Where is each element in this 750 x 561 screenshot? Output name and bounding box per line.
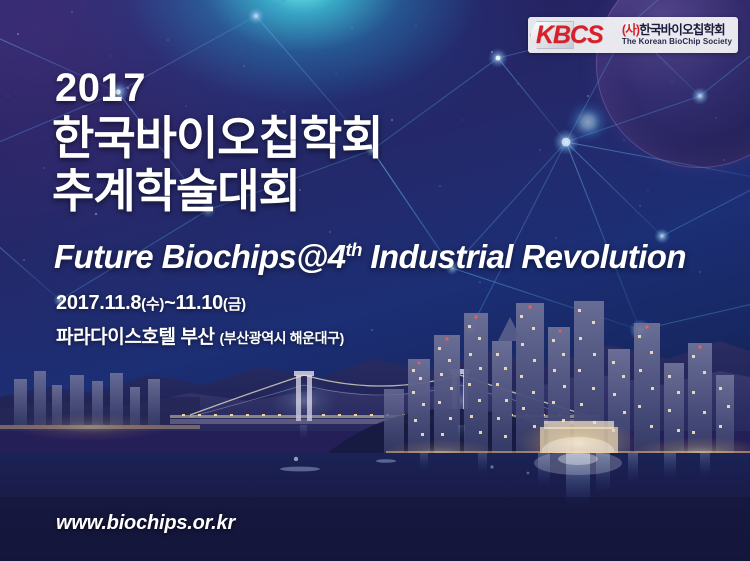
venue-district: (부산광역시 해운대구): [220, 330, 344, 346]
title-kr-line-2: 추계학술대회: [52, 165, 383, 218]
date-start: 2017.11.8: [56, 292, 141, 314]
date-end: 11.10: [175, 292, 222, 314]
date-separator: ~: [164, 292, 175, 314]
poster-title-english: Future Biochips@4th Industrial Revolutio…: [54, 238, 686, 276]
kbcs-logo-mark: KBCS: [530, 19, 622, 51]
title-en-ordinal-suffix: th: [346, 239, 362, 260]
title-en-rest: Industrial Revolution: [362, 238, 686, 275]
kbcs-logo[interactable]: KBCS (사)한국바이오칩학회 The Korean BioChip Soci…: [528, 17, 738, 53]
website-url[interactable]: www.biochips.or.kr: [56, 512, 235, 535]
date-end-day-of-week: (금): [223, 296, 246, 313]
org-incorporation-mark: (사): [622, 23, 639, 37]
org-name-english: The Korean BioChip Society: [622, 38, 732, 46]
date-start-day-of-week: (수): [141, 296, 164, 313]
kbcs-logo-text: (사)한국바이오칩학회 The Korean BioChip Society: [622, 24, 732, 47]
title-kr-line-1: 한국바이오칩학회: [52, 112, 383, 165]
event-venue: 파라다이스호텔 부산 (부산광역시 해운대구): [56, 322, 344, 349]
org-name-korean-text: 한국바이오칩학회: [639, 23, 725, 37]
kbcs-wordmark: KBCS: [536, 22, 603, 48]
title-en-main: Future Biochips@4: [54, 238, 346, 275]
poster-year: 2017: [55, 68, 146, 108]
poster-title-korean: 한국바이오칩학회 추계학술대회: [52, 112, 383, 219]
conference-poster: 2017 한국바이오칩학회 추계학술대회 Future Biochips@4th…: [0, 0, 750, 561]
event-date: 2017.11.8(수)~11.10(금): [56, 292, 246, 315]
org-name-korean: (사)한국바이오칩학회: [622, 24, 732, 37]
venue-name: 파라다이스호텔 부산: [56, 327, 215, 348]
